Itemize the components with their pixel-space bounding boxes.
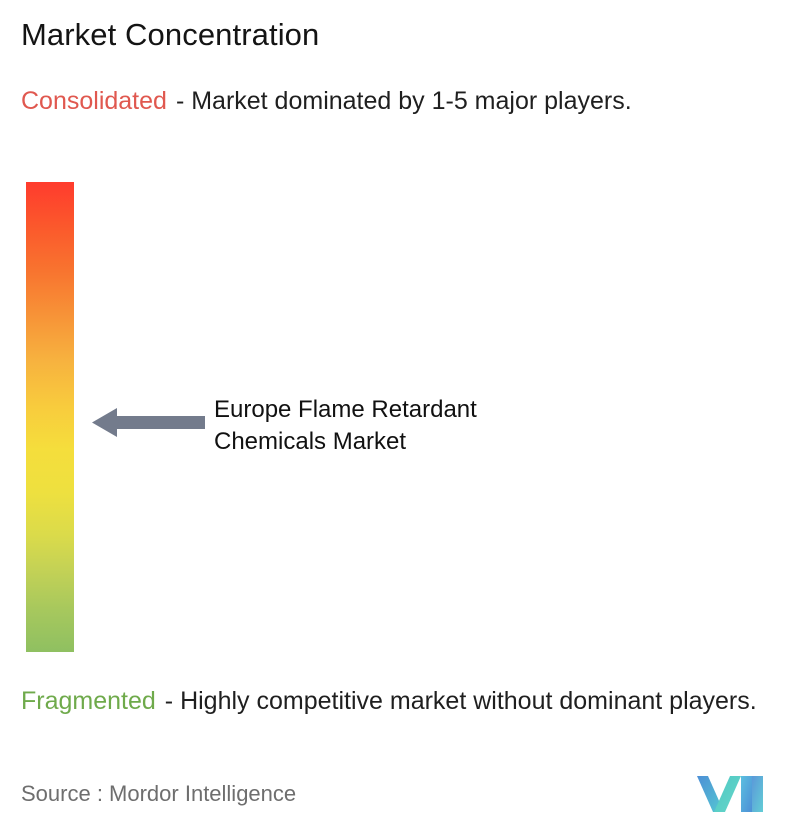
legend-fragmented-description: - Highly competitive market without domi… [165, 687, 757, 715]
source-label: Source : Mordor Intelligence [21, 780, 296, 808]
left-arrow-icon [92, 405, 205, 440]
market-pointer-label-line1: Europe Flame Retardant [214, 394, 634, 426]
page-title: Market Concentration [21, 16, 319, 54]
legend-fragmented: Fragmented- Highly competitive market wi… [21, 685, 791, 718]
market-pointer-label-line2: Chemicals Market [214, 426, 634, 458]
legend-fragmented-keyword: Fragmented [21, 687, 156, 715]
legend-consolidated-keyword: Consolidated [21, 87, 167, 115]
mordor-intelligence-logo-icon [697, 773, 763, 815]
legend-consolidated: Consolidated- Market dominated by 1-5 ma… [21, 85, 761, 118]
market-concentration-gradient-bar [26, 182, 74, 652]
market-pointer-label: Europe Flame Retardant Chemicals Market [214, 394, 634, 458]
legend-consolidated-description: - Market dominated by 1-5 major players. [176, 87, 632, 115]
